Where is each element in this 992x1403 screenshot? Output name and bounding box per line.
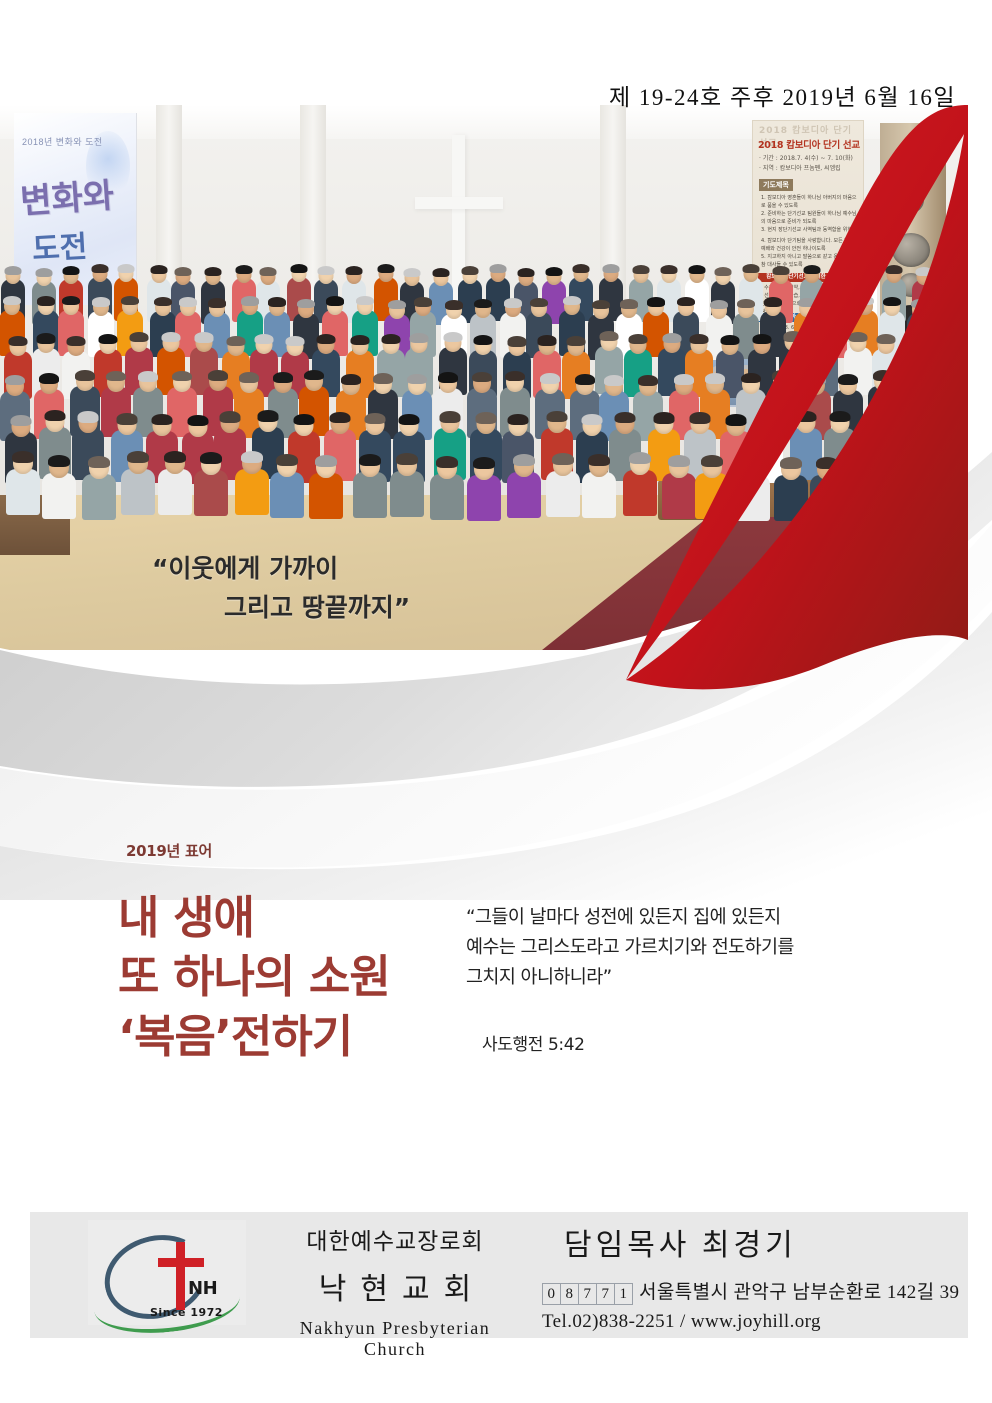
congregant-body [235, 469, 269, 515]
congregant-hair [175, 267, 192, 276]
congregant-hair [653, 412, 674, 423]
congregant-hair [857, 264, 874, 273]
wall-cross-horizontal [415, 197, 503, 209]
congregant-hair [317, 334, 336, 344]
congregant [808, 458, 847, 524]
congregant-hair [941, 264, 958, 273]
congregant [388, 454, 427, 520]
congregant [464, 458, 503, 524]
congregant-hair [409, 333, 428, 343]
congregant-hair [592, 300, 610, 310]
address-row: 08771서울특별시 관악구 남부순환로 142길 39 [542, 1277, 959, 1305]
congregant-hair [552, 453, 574, 465]
congregation-photo: 2018년 변화와 도전 변화와 도전 2018 캄보디아 단기 선교 2018… [0, 105, 968, 650]
congregant-hair [381, 334, 400, 344]
scripture-reference: 사도행전 5:42 [482, 1030, 585, 1055]
congregant-hair [399, 414, 420, 425]
congregant-hair [572, 264, 589, 273]
congregant-body [467, 475, 501, 521]
speaker-icon [890, 219, 904, 231]
congregant-body [158, 469, 192, 515]
photo-caption-line1: “이웃에게 가까이 [152, 554, 338, 583]
logo-cross-icon [158, 1258, 204, 1267]
congregant-hair [200, 452, 222, 464]
congregant-hair [677, 297, 695, 307]
congregant-hair [563, 296, 581, 306]
congregant-hair [546, 411, 567, 422]
congregant-body [121, 469, 155, 515]
congregant-hair [77, 411, 98, 422]
congregant-hair [388, 300, 406, 310]
congregant-hair [816, 457, 838, 469]
congregant-hair [911, 299, 929, 309]
congregant-hair [67, 336, 86, 346]
congregant-hair [205, 267, 222, 276]
poster-title: 2018 캄보디아 단기 선교 [758, 137, 860, 151]
congregant-hair [581, 414, 602, 425]
logo-cross-icon [176, 1242, 185, 1310]
banner-headline-2: 도전 [31, 222, 88, 269]
congregant [3, 452, 42, 518]
congregant [544, 454, 583, 520]
congregant-hair [588, 454, 610, 466]
congregant-hair [377, 264, 394, 273]
congregant-body [546, 471, 580, 517]
congregant-hair [830, 266, 847, 275]
congregant-hair [10, 415, 31, 426]
poster-place: · 지역 : 캄보디아 프놈펜, 씨엠립 [759, 163, 841, 172]
congregant-hair [179, 297, 197, 307]
congregant-body [623, 470, 657, 516]
speaker-icon [892, 233, 930, 267]
postal-code-digit: 8 [560, 1283, 579, 1305]
slogan-main-text: 내 생애 또 하나의 소원 ‘복음’전하기 [118, 888, 390, 1066]
congregant-hair [505, 371, 525, 382]
congregant-hair [806, 374, 826, 385]
congregant-hair [462, 266, 479, 275]
congregant-hair [92, 297, 110, 307]
congregant-hair [373, 373, 393, 384]
church-name-korean: 낙현교회 [270, 1264, 520, 1308]
congregant-hair [629, 452, 651, 464]
congregant-hair [638, 375, 658, 386]
congregant-hair [172, 371, 192, 382]
congregant [268, 455, 307, 521]
congregant [428, 457, 467, 523]
scripture-line-1: “그들이 날마다 성전에 있든지 집에 있든지 [466, 903, 794, 933]
contact-block: 담임목사 최경기 08771서울특별시 관악구 남부순환로 142길 39 Te… [542, 1220, 959, 1333]
congregant-hair [341, 374, 361, 385]
congregant-hair [285, 336, 304, 346]
congregant-hair [803, 265, 820, 274]
slogan-line-2: 또 하나의 소원 [118, 947, 390, 1006]
congregant-hair [885, 265, 902, 274]
congregant-body [82, 474, 116, 520]
congregant-hair [436, 456, 458, 468]
congregant-hair [941, 334, 960, 344]
congregant-body [662, 473, 696, 519]
congregant-hair [674, 374, 694, 385]
congregant-hair [91, 264, 108, 273]
speaker-icon [898, 187, 924, 213]
congregant-hair [273, 372, 293, 383]
congregant-hair [150, 265, 167, 274]
congregant-hair [36, 268, 53, 277]
congregant [848, 453, 887, 519]
congregant-hair [689, 265, 706, 274]
congregant-body [890, 473, 924, 519]
congregant-hair [518, 268, 535, 277]
congregant-hair [830, 411, 851, 422]
poster-prayer-2: 2. 준비하는 단기선교 팀원들이 하나님 예수님의 마음으로 준비가 되도록 [761, 211, 857, 226]
congregant-hair [935, 415, 956, 426]
congregant-hair [346, 266, 363, 275]
congregant-hair [439, 411, 460, 422]
congregant-hair [743, 264, 760, 273]
poster-period: · 기간 : 2018.7. 4(수) ~ 7. 10(화) [759, 153, 853, 162]
congregant-hair [407, 374, 427, 385]
congregant-hair [75, 370, 95, 381]
congregant-hair [127, 451, 149, 463]
congregant-hair [117, 264, 134, 273]
congregant-hair [896, 455, 918, 467]
congregant-hair [710, 300, 728, 310]
congregant-hair [602, 264, 619, 273]
banner-small-text: 2018년 변화와 도전 [22, 135, 103, 148]
congregant-hair [705, 373, 725, 384]
congregant-hair [873, 370, 893, 381]
congregant-body [582, 472, 616, 518]
poster-prayer-3: 3. 현지 장단기선교 사역팀과 동역함을 위하여 [761, 227, 857, 235]
congregant-hair [365, 413, 386, 424]
footer-band: NH Since 1972 대한예수교장로회 낙현교회 Nakhyun Pres… [30, 1212, 968, 1338]
congregant-hair [315, 455, 337, 467]
postal-code-digit: 1 [614, 1283, 633, 1305]
congregant-hair [208, 298, 226, 308]
congregant-body [42, 473, 76, 519]
congregant-hair [36, 333, 55, 343]
congregant-hair [647, 297, 665, 307]
congregant [40, 456, 79, 522]
congregant-hair [48, 455, 70, 467]
congregant-hair [540, 373, 560, 384]
congregant [80, 457, 119, 523]
congregant-hair [161, 332, 180, 342]
congregant [621, 453, 660, 519]
congregant-hair [227, 336, 246, 346]
congregant [771, 458, 810, 524]
congregant-hair [121, 296, 139, 306]
congregant-body [430, 474, 464, 520]
congregant-hair [294, 414, 315, 425]
congregant-hair [62, 266, 79, 275]
congregant-hair [507, 336, 526, 346]
pastor-name: 담임목사 최경기 [542, 1220, 959, 1264]
photo-caption: “이웃에게 가까이 그리고 땅끝까지” [152, 550, 410, 628]
congregant-hair [614, 412, 635, 423]
congregant [119, 452, 158, 518]
congregant-hair [784, 331, 803, 341]
congregant-hair [660, 265, 677, 274]
congregant-hair [291, 264, 308, 273]
congregant-hair [88, 456, 110, 468]
congregant-hair [780, 457, 802, 469]
congregant-hair [795, 411, 816, 422]
slogan-line-3: ‘복음’전하기 [118, 1007, 390, 1066]
congregant-hair [5, 375, 25, 386]
congregant-hair [304, 370, 324, 381]
scripture-line-3: 그치지 아니하니라” [466, 963, 794, 993]
postal-code-digit: 0 [542, 1283, 561, 1305]
congregant-hair [208, 370, 228, 381]
congregant-hair [701, 455, 723, 467]
congregant-hair [255, 334, 274, 344]
congregant-hair [915, 267, 932, 276]
congregant-hair [330, 412, 351, 423]
congregant-hair [504, 298, 522, 308]
scripture-line-2: 예수는 그리스도라고 가르치기와 전도하기를 [466, 933, 794, 963]
postal-code-digit: 7 [596, 1283, 615, 1305]
congregant-hair [445, 300, 463, 310]
congregant-hair [566, 336, 585, 346]
congregant-hair [474, 299, 492, 309]
congregant-hair [414, 297, 432, 307]
poster-prayer-4: 4. 캄보디아 단기팀을 사랑합니다. 모든 일정 예배와 건강이 안전 하나이… [761, 238, 857, 253]
congregant-hair [868, 411, 889, 422]
congregant-hair [689, 334, 708, 344]
congregant-hair [904, 410, 925, 421]
congregant-hair [473, 335, 492, 345]
congregant-hair [546, 267, 563, 276]
congregant-hair [326, 296, 344, 306]
congregant-hair [883, 297, 901, 307]
poster-prayer-tag: 기도제목 [759, 179, 793, 191]
congregant-hair [235, 265, 252, 274]
congregant-hair [513, 454, 535, 466]
congregant-hair [106, 371, 126, 382]
congregant-hair [396, 453, 418, 465]
congregant-hair [668, 455, 690, 467]
congregant-hair [99, 334, 118, 344]
congregant-hair [472, 372, 492, 383]
congregant-hair [260, 267, 277, 276]
congregant-hair [239, 372, 259, 383]
congregant-hair [433, 268, 450, 277]
congregant-hair [838, 374, 858, 385]
postal-code-digit: 7 [578, 1283, 597, 1305]
congregant-hair [742, 457, 764, 469]
contact-row: Tel.02)838-2251 / www.joyhill.org [542, 1311, 959, 1333]
address-text: 서울특별시 관악구 남부순환로 142길 39 [639, 1282, 959, 1303]
congregant [693, 456, 732, 522]
congregant-body [930, 471, 964, 517]
slogan-line-1: 내 생애 [118, 888, 390, 947]
congregant-body [695, 473, 729, 519]
congregant-hair [772, 370, 792, 381]
congregant-hair [940, 297, 958, 307]
congregant [192, 453, 231, 519]
congregant-hair [359, 454, 381, 466]
congregant-hair [356, 296, 374, 306]
issue-date-line: 제 19-24호 주후 2019년 6월 16일 [609, 78, 956, 112]
congregant-hair [908, 372, 928, 383]
congregant-hair [438, 372, 458, 383]
congregant-body [309, 473, 343, 519]
congregant-hair [5, 266, 22, 275]
church-logo: NH Since 1972 [88, 1220, 246, 1325]
church-name-english: Nakhyun Presbyterian Church [270, 1318, 520, 1360]
congregant-hair [575, 374, 595, 385]
congregant-hair [721, 335, 740, 345]
congregant-body [194, 470, 228, 516]
congregant [233, 452, 272, 518]
congregant-hair [662, 333, 681, 343]
congregant-hair [241, 296, 259, 306]
congregant-hair [714, 267, 731, 276]
congregant-hair [940, 374, 960, 385]
congregant-hair [849, 332, 868, 342]
congregant-hair [489, 264, 506, 273]
congregant-hair [628, 334, 647, 344]
congregant-hair [3, 296, 21, 306]
congregant [351, 455, 390, 521]
congregant-body [507, 472, 541, 518]
congregant-hair [825, 298, 843, 308]
congregant-hair [187, 415, 208, 426]
congregant-hair [116, 413, 137, 424]
congregant-body [736, 475, 770, 521]
congregant-hair [164, 451, 186, 463]
postal-code: 08771 [542, 1282, 632, 1305]
photo-caption-line2: 그리고 땅끝까지” [224, 589, 410, 628]
congregant-hair [912, 336, 931, 346]
congregant-body [850, 470, 884, 516]
congregant-hair [620, 299, 638, 309]
congregant-hair [856, 296, 874, 306]
congregant-hair [537, 335, 556, 345]
congregant-hair [876, 334, 895, 344]
congregant-hair [154, 297, 172, 307]
congregant-hair [318, 266, 335, 275]
congregant-hair [257, 410, 278, 421]
congregant-hair [757, 414, 778, 425]
congregant-hair [773, 266, 790, 275]
congregant-hair [37, 296, 55, 306]
poster-prayer-1: 1. 캄보디아 영혼들이 하나님 아버지의 마음으로 품을 수 있도록 [761, 195, 857, 210]
congregant-hair [764, 297, 782, 307]
congregant-hair [152, 414, 173, 425]
congregant-hair [219, 411, 240, 422]
congregant-hair [268, 297, 286, 307]
congregant-body [353, 472, 387, 518]
congregant-body [390, 471, 424, 517]
congregant [306, 456, 345, 522]
banner-headline-1: 변화와 [18, 168, 115, 223]
congregant-body [774, 475, 808, 521]
congregant-hair [350, 335, 369, 345]
congregant-hair [633, 265, 650, 274]
congregant-hair [39, 373, 59, 384]
speaker-icon [894, 147, 928, 181]
congregant [734, 458, 773, 524]
congregant-hair [403, 268, 420, 277]
denomination-name: 대한예수교장로회 [270, 1222, 520, 1256]
congregant-hair [725, 414, 746, 425]
congregant [504, 455, 543, 521]
congregant-body [6, 469, 40, 515]
congregant-hair [741, 373, 761, 384]
congregant-hair [138, 371, 158, 382]
congregant-hair [530, 298, 548, 308]
congregant-hair [507, 414, 528, 425]
congregant-hair [195, 332, 214, 342]
congregant-hair [129, 332, 148, 342]
congregant-hair [690, 412, 711, 423]
congregant-hair [737, 299, 755, 309]
congregant-hair [936, 453, 958, 465]
congregant-hair [8, 336, 27, 346]
congregant-hair [473, 457, 495, 469]
congregant [155, 452, 194, 518]
congregant-hair [798, 298, 816, 308]
congregant-hair [44, 410, 65, 421]
congregant-hair [62, 296, 80, 306]
congregation-crowd [0, 265, 968, 500]
congregant-body [810, 475, 844, 521]
congregant-hair [604, 375, 624, 386]
congregant [888, 456, 927, 522]
congregant-hair [297, 299, 315, 309]
slogan-year-label: 2019년 표어 [126, 840, 212, 861]
congregant-hair [241, 451, 263, 463]
church-name-block: 대한예수교장로회 낙현교회 Nakhyun Presbyterian Churc… [270, 1222, 520, 1360]
congregant-hair [475, 412, 496, 423]
logo-since-text: Since 1972 [150, 1306, 223, 1319]
congregant-hair [444, 332, 463, 342]
congregant [580, 455, 619, 521]
congregant-body [270, 472, 304, 518]
congregant-hair [276, 454, 298, 466]
congregant-hair [856, 452, 878, 464]
logo-nh-text: NH [188, 1278, 217, 1299]
congregant-hair [752, 334, 771, 344]
scripture-quote: “그들이 날마다 성전에 있든지 집에 있든지 예수는 그리스도라고 가르치기와… [466, 903, 794, 993]
congregant-hair [814, 333, 833, 343]
congregant [928, 454, 967, 520]
congregant-hair [600, 331, 619, 341]
congregant-hair [12, 451, 34, 463]
